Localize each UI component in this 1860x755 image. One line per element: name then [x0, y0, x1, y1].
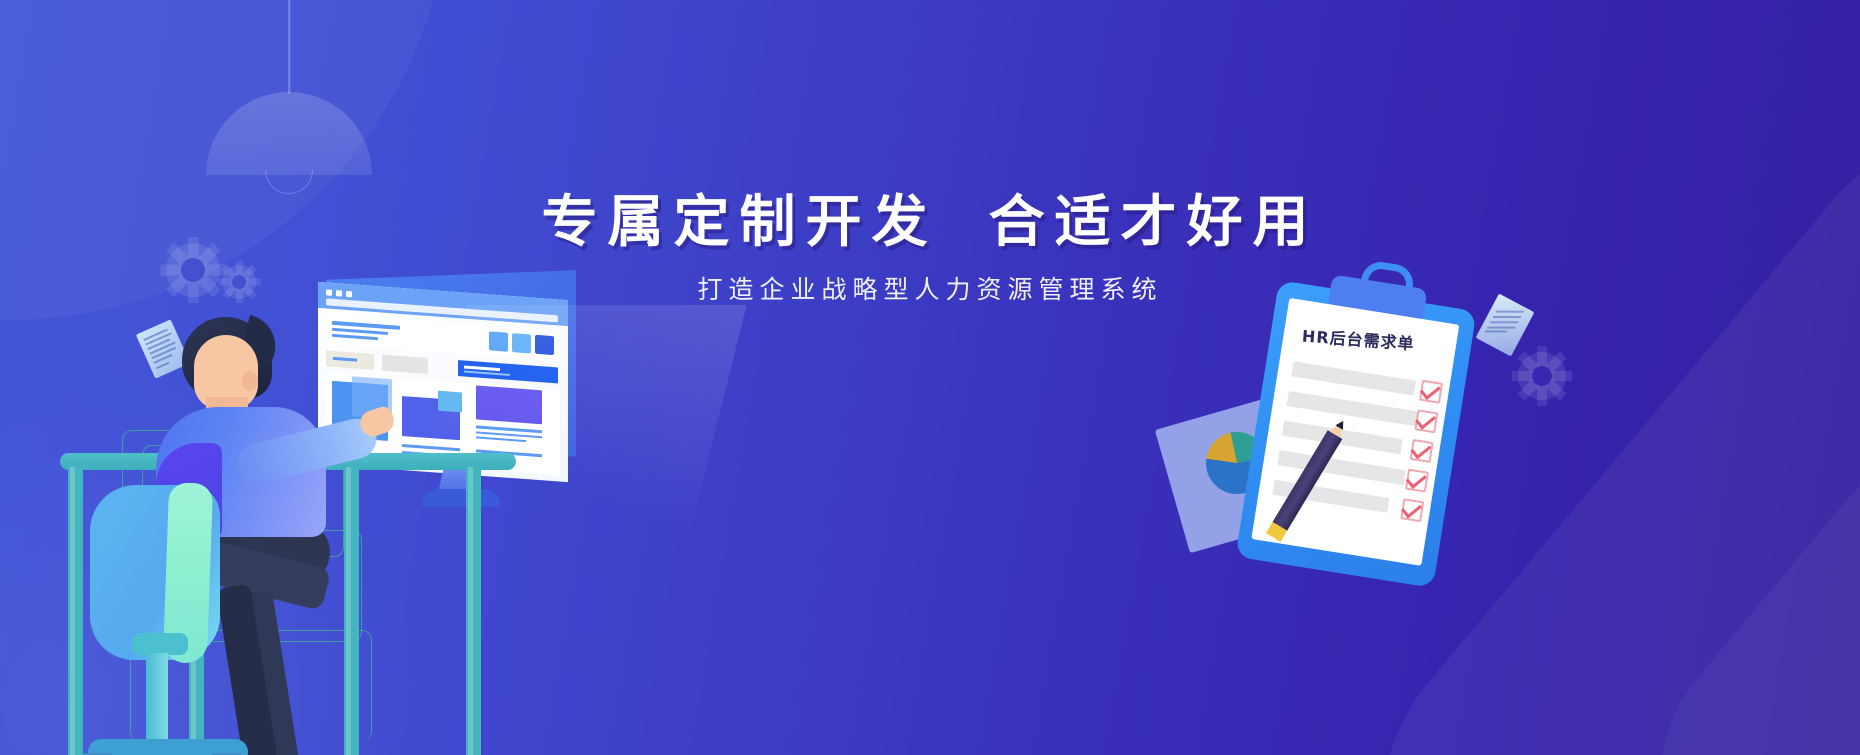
- checklist-row: [1287, 391, 1420, 426]
- lamp-shade: [206, 92, 372, 175]
- screen-swatch-2: [512, 333, 531, 353]
- checkmark-icon: [1414, 409, 1438, 433]
- checkmark-icon: [1419, 380, 1443, 404]
- clipboard-title: HR后台需求单: [1301, 323, 1444, 357]
- checkmark-icon: [1400, 498, 1424, 522]
- banner-subtitle: 打造企业战略型人力资源管理系统: [0, 270, 1860, 306]
- gear-icon-right: [1518, 352, 1566, 400]
- screen-tab-3: [458, 360, 558, 383]
- chair-seat-hub: [132, 633, 188, 655]
- hero-banner: 专属定制开发 合适才好用 打造企业战略型人力资源管理系统: [0, 0, 1860, 755]
- screen-swatch-1: [489, 331, 508, 351]
- screen-swatch-3: [535, 335, 554, 355]
- banner-headline: 专属定制开发 合适才好用: [0, 190, 1860, 254]
- checkmark-icon: [1410, 439, 1434, 463]
- desk-leg: [344, 467, 359, 755]
- screen-card-2-overlay: [438, 391, 462, 413]
- checklist-row: [1291, 361, 1416, 395]
- screen-tab-2: [382, 355, 428, 374]
- desk-leg: [68, 467, 83, 755]
- monitor-base: [422, 489, 500, 507]
- hr-clipboard-illustration: HR后台需求单: [1170, 280, 1590, 620]
- desk-leg: [466, 467, 481, 755]
- chair-stem: [146, 653, 168, 749]
- checkmark-icon: [1405, 469, 1429, 493]
- lamp-cord: [288, 0, 290, 94]
- clipboard: HR后台需求单: [1235, 280, 1476, 588]
- screen-card-3: [476, 385, 542, 424]
- pendant-lamp-icon: [206, 0, 372, 175]
- screen-tab-1: [326, 350, 374, 370]
- person-ear: [242, 371, 258, 391]
- headline-block: 专属定制开发 合适才好用 打造企业战略型人力资源管理系统: [0, 190, 1860, 306]
- desk-workspace-illustration: [60, 255, 700, 755]
